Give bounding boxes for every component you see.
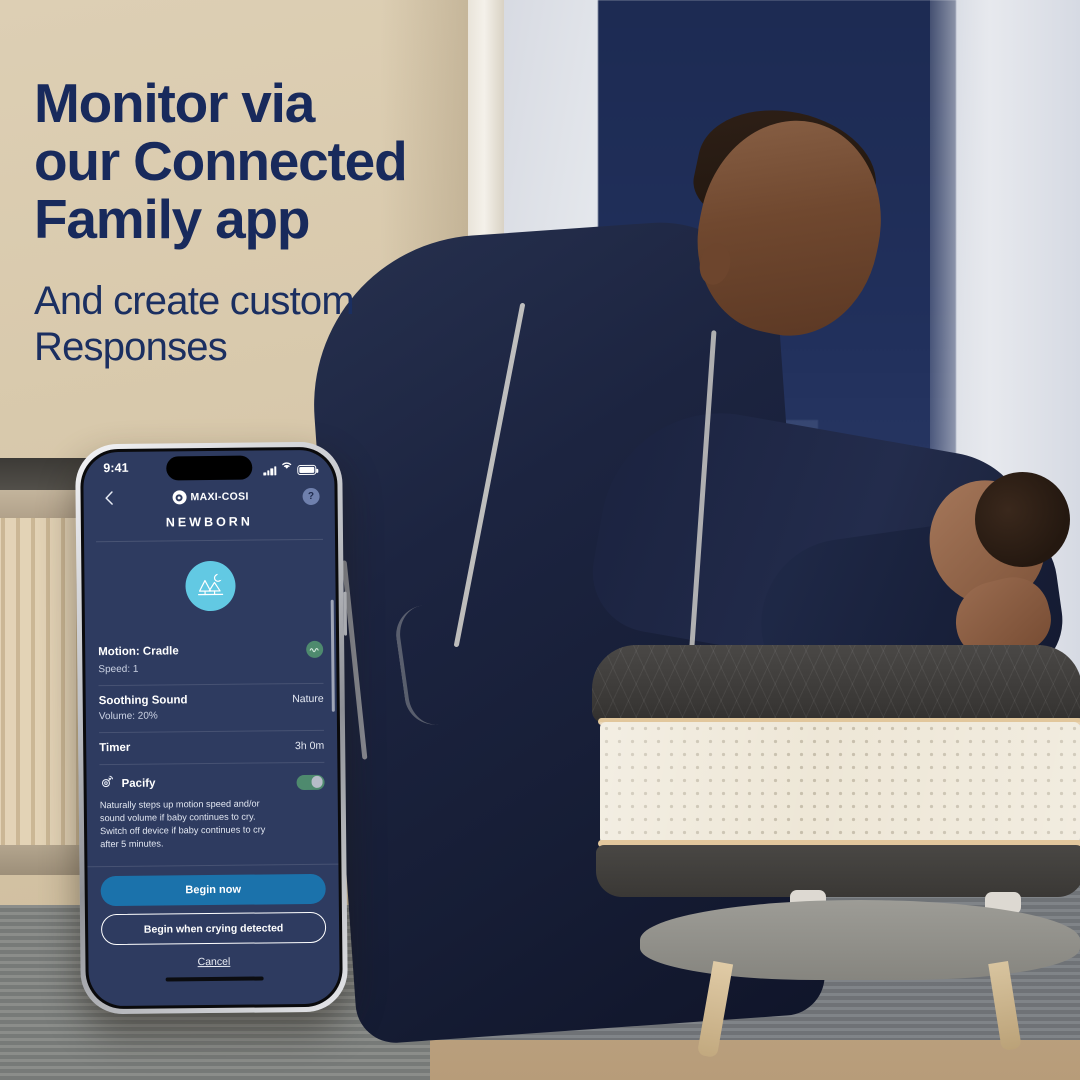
row-subtext: Speed: 1 bbox=[98, 662, 323, 675]
row-title: Timer bbox=[99, 742, 130, 754]
marketing-copy: Monitor via our Connected Family app And… bbox=[34, 74, 474, 371]
home-indicator bbox=[165, 977, 263, 982]
phone-screen: 9:41 MAXI-COSI ? bbox=[83, 450, 340, 1007]
headline: Monitor via our Connected Family app bbox=[34, 74, 474, 248]
row-value: Nature bbox=[292, 693, 324, 705]
cellular-signal-icon bbox=[264, 465, 277, 475]
phone-mockup: 9:41 MAXI-COSI ? bbox=[75, 442, 348, 1015]
status-bar: 9:41 bbox=[83, 450, 334, 485]
pacify-label: Pacify bbox=[122, 778, 156, 790]
status-time: 9:41 bbox=[103, 461, 129, 475]
begin-now-button[interactable]: Begin now bbox=[101, 874, 326, 906]
cancel-link[interactable]: Cancel bbox=[101, 955, 326, 969]
pacifier-sound-icon bbox=[99, 774, 114, 794]
dynamic-island bbox=[166, 456, 252, 481]
phone-side-button[interactable] bbox=[344, 592, 347, 636]
bassinet-base bbox=[596, 845, 1080, 897]
settings-row-motion[interactable]: Motion: Cradle Speed: 1 bbox=[98, 632, 324, 685]
pacify-description: Naturally steps up motion speed and/or s… bbox=[100, 797, 326, 852]
app-bar: MAXI-COSI ? bbox=[83, 482, 334, 511]
wifi-icon bbox=[280, 457, 293, 475]
bassinet-rim bbox=[592, 645, 1080, 723]
begin-when-crying-detected-button[interactable]: Begin when crying detected bbox=[101, 912, 326, 945]
pacify-toggle[interactable] bbox=[296, 774, 324, 789]
bassinet-mesh-sheen bbox=[600, 722, 1080, 844]
settings-row-timer[interactable]: Timer 3h 0m bbox=[99, 730, 324, 764]
brand-name: MAXI-COSI bbox=[190, 491, 248, 504]
row-title: Soothing Sound bbox=[99, 694, 188, 707]
settings-list: Motion: Cradle Speed: 1 Soothing Sound N… bbox=[85, 632, 338, 860]
row-value: 3h 0m bbox=[295, 740, 324, 752]
subheadline: And create custom Responses bbox=[34, 278, 474, 371]
row-title: Motion: Cradle bbox=[98, 645, 179, 658]
hero-section bbox=[84, 540, 336, 635]
settings-row-soothing-sound[interactable]: Soothing Sound Nature Volume: 20% bbox=[99, 683, 324, 732]
action-buttons: Begin now Begin when crying detected Can… bbox=[87, 864, 339, 970]
motion-wave-icon bbox=[306, 641, 323, 658]
toggle-knob bbox=[311, 776, 323, 788]
pacify-section: Pacify Naturally steps up motion speed a… bbox=[99, 762, 325, 860]
maxi-cosi-logo-icon bbox=[172, 490, 186, 504]
battery-icon bbox=[297, 465, 316, 475]
baby-hair bbox=[975, 472, 1070, 567]
page-title: NEWBORN bbox=[84, 508, 335, 542]
bassinet-stand bbox=[640, 900, 1080, 980]
brand-logo: MAXI-COSI bbox=[172, 490, 248, 505]
row-subtext: Volume: 20% bbox=[99, 709, 324, 722]
back-chevron-icon[interactable] bbox=[98, 488, 118, 508]
help-button[interactable]: ? bbox=[302, 487, 319, 504]
nature-mountains-moon-icon[interactable] bbox=[185, 561, 236, 612]
